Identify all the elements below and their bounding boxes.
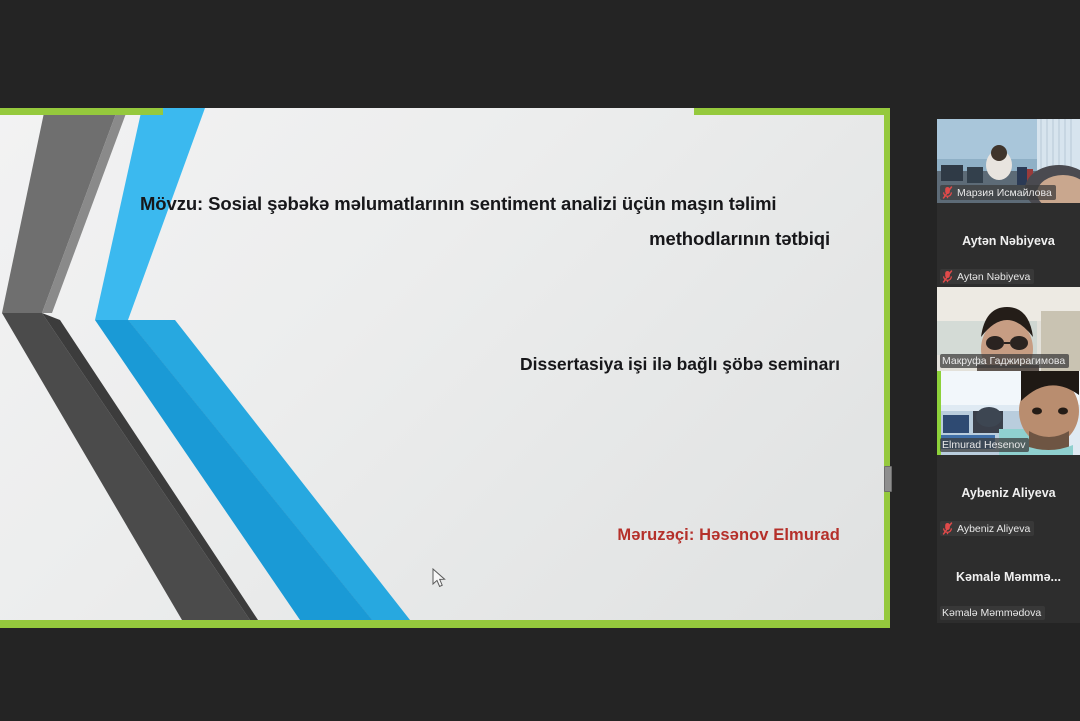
participant-label: Aybeniz Aliyeva	[940, 521, 1034, 536]
slide-title: Mövzu: Sosial şəbəkə məlumatlarının sent…	[140, 186, 830, 256]
mic-muted-icon	[942, 270, 953, 283]
mic-muted-icon	[942, 186, 953, 199]
participant-tile[interactable]: Макруфа Гаджирагимова	[937, 287, 1080, 371]
participant-name: Aytən Nəbiyeva	[957, 271, 1030, 283]
participant-name: Elmurad Hesenov	[942, 439, 1025, 451]
participant-name: Макруфа Гаджирагимова	[942, 355, 1065, 367]
participant-name: Aybeniz Aliyeva	[957, 523, 1030, 535]
mic-muted-icon	[942, 522, 953, 535]
participant-name: Kəmalə Məmmədova	[942, 607, 1041, 619]
meeting-window: Mövzu: Sosial şəbəkə məlumatlarının sent…	[0, 0, 1080, 721]
participant-name: Марзия Исмайлова	[957, 187, 1052, 199]
participant-label: Kəmalə Məmmədova	[940, 606, 1045, 620]
participant-tile[interactable]: Aytən Nəbiyeva Aytən Nəbiyeva	[937, 203, 1080, 287]
participant-tile[interactable]: Kəmalə Məmmə... Kəmalə Məmmədova	[937, 539, 1080, 623]
slide-edge-top-left	[0, 108, 163, 115]
participant-label: Макруфа Гаджирагимова	[940, 354, 1069, 368]
participant-tile[interactable]: Aybeniz Aliyeva Aybeniz Aliyeva	[937, 455, 1080, 539]
participant-label: Aytən Nəbiyeva	[940, 269, 1034, 284]
mouse-pointer-icon	[432, 568, 446, 588]
participant-label: Elmurad Hesenov	[940, 438, 1029, 452]
slide-subtitle: Dissertasiya işi ilə bağlı şöbə seminarı	[300, 354, 840, 375]
presentation-slide: Mövzu: Sosial şəbəkə məlumatlarının sent…	[0, 108, 890, 628]
participant-filmstrip[interactable]: Марзия Исмайлова Aytən Nəbiyeva Aytən Nə…	[937, 119, 1080, 624]
share-scroll-handle[interactable]	[884, 466, 892, 492]
slide-edge-right	[884, 108, 890, 628]
participant-label: Марзия Исмайлова	[940, 185, 1056, 200]
slide-title-line1: Mövzu: Sosial şəbəkə məlumatlarının sent…	[140, 193, 776, 214]
shared-screen-area[interactable]: Mövzu: Sosial şəbəkə məlumatlarının sent…	[0, 108, 890, 628]
slide-presenter: Məruzəçi: Həsənov Elmurad	[300, 526, 840, 545]
slide-title-line2: methodlarının tətbiqi	[140, 221, 830, 256]
slide-edge-bottom	[0, 620, 890, 628]
participant-tile-active-speaker[interactable]: Elmurad Hesenov	[937, 371, 1080, 455]
participant-tile[interactable]: Марзия Исмайлова	[937, 119, 1080, 203]
slide-edge-top-right	[694, 108, 890, 115]
